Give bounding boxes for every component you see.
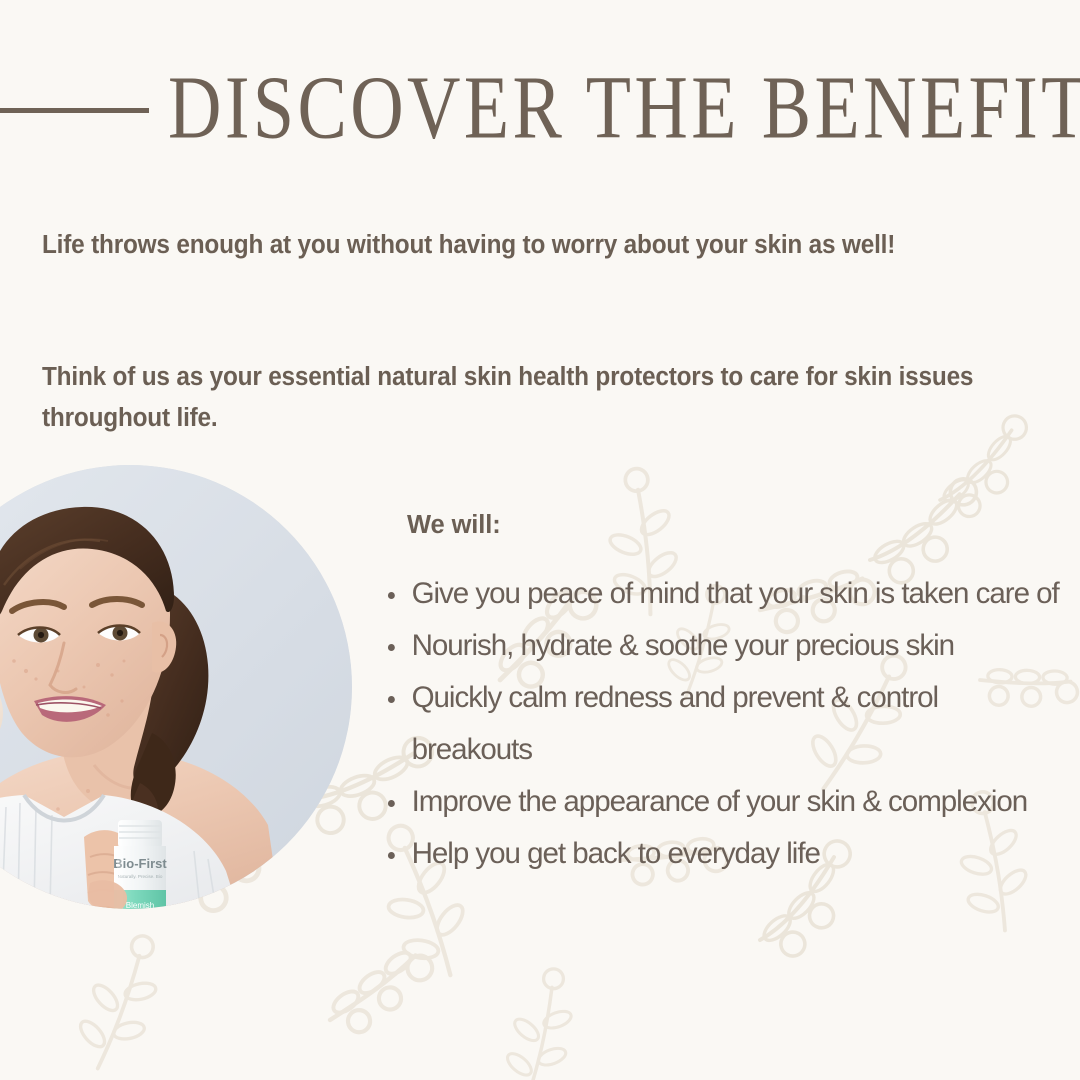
list-item-label: Improve the appearance of your skin & co… bbox=[412, 785, 1028, 818]
intro-paragraph-2: Think of us as your essential natural sk… bbox=[42, 357, 983, 439]
list-item-label: Give you peace of mind that your skin is… bbox=[412, 577, 1059, 610]
poster-canvas: DISCOVER THE BENEFITS Life throws enough… bbox=[0, 0, 1080, 1080]
bullet-icon bbox=[388, 592, 395, 599]
list-item: Give you peace of mind that your skin is… bbox=[384, 568, 1064, 620]
list-item: Improve the appearance of your skin & co… bbox=[384, 776, 1064, 828]
benefits-list: Give you peace of mind that your skin is… bbox=[384, 568, 1074, 880]
list-item-label: Quickly calm redness and prevent & contr… bbox=[412, 681, 938, 766]
hero-photo: Bio-First Naturally. Precise. Bio Blemis… bbox=[0, 465, 352, 909]
svg-text:Naturally. Precise. Bio: Naturally. Precise. Bio bbox=[118, 874, 163, 879]
list-item-label: Help you get back to everyday life bbox=[412, 837, 820, 870]
intro-paragraph-1: Life throws enough at you without having… bbox=[42, 225, 930, 266]
bullet-icon bbox=[388, 852, 395, 859]
svg-text:Blemish: Blemish bbox=[126, 901, 154, 909]
bullet-icon bbox=[388, 644, 395, 651]
bullet-icon bbox=[388, 696, 395, 703]
list-item-label: Nourish, hydrate & soothe your precious … bbox=[412, 629, 955, 662]
page-title: DISCOVER THE BENEFITS bbox=[168, 49, 1048, 166]
bullet-icon bbox=[388, 800, 395, 807]
benefits-heading: We will: bbox=[407, 508, 501, 542]
list-item: Quickly calm redness and prevent & contr… bbox=[384, 672, 1064, 776]
list-item: Help you get back to everyday life bbox=[384, 828, 1064, 880]
list-item: Nourish, hydrate & soothe your precious … bbox=[384, 620, 1064, 672]
header-rule-icon bbox=[0, 108, 149, 113]
